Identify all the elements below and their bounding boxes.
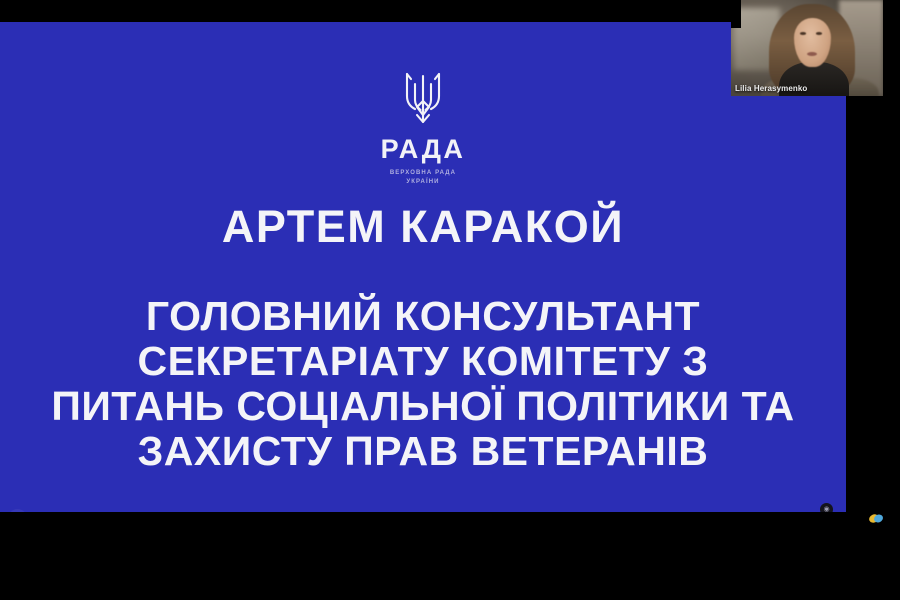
webcam-corner-mask [731,0,741,28]
rada-logo-block: РАДА ВЕРХОВНА РАДА УКРАЇНИ [0,70,846,186]
shared-slide: РАДА ВЕРХОВНА РАДА УКРАЇНИ АРТЕМ КАРАКОЙ… [0,22,846,512]
presenter-title-line: ГОЛОВНИЙ КОНСУЛЬТАНТ [0,294,846,339]
webcam-face [794,18,831,67]
presenter-title-line: ПИТАНЬ СОЦІАЛЬНОЇ ПОЛІТИКИ ТА [0,384,846,429]
webcam-eye-left [800,32,806,35]
camera-badge-icon: ◉ [820,503,833,512]
ukrainian-trident-tryzub-icon [399,70,447,128]
presenter-name: АРТЕМ КАРАКОЙ [0,204,846,249]
rada-wordmark: РАДА [0,136,846,163]
screen-root: РАДА ВЕРХОВНА РАДА УКРАЇНИ АРТЕМ КАРАКОЙ… [0,0,900,600]
meet-code-chip[interactable]: → Meet code [37,512,103,513]
presenter-title-line: СЕКРЕТАРІАТУ КОМІТЕТУ З [0,339,846,384]
participant-name-label: Lilia Herasymenko [735,84,807,93]
app-icon[interactable] [868,511,885,526]
microphone-icon[interactable] [8,509,27,512]
presenter-title: ГОЛОВНИЙ КОНСУЛЬТАНТ СЕКРЕТАРІАТУ КОМІТЕ… [0,294,846,474]
rada-logo-subtitle: ВЕРХОВНА РАДА УКРАЇНИ [0,169,846,186]
webcam-tile[interactable]: Lilia Herasymenko [731,0,883,96]
camera-badge-glyph: ◉ [823,506,829,512]
presenter-title-line: ЗАХИСТУ ПРАВ ВЕТЕРАНІВ [0,429,846,474]
meet-controls-bar: → Meet code [8,509,103,512]
webcam-mouth [807,52,817,56]
webcam-eye-right [816,32,822,35]
